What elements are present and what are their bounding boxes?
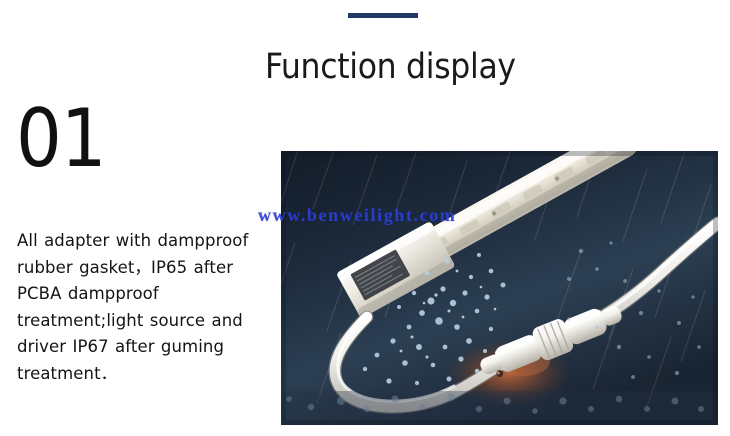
product-photo-illustration (281, 151, 718, 425)
feature-description: All adapter with dampproof rubber gasket… (17, 228, 249, 387)
page-title: Function display (265, 50, 545, 85)
title-accent-rule (348, 13, 418, 18)
site-watermark: www.benweilight.com (258, 205, 456, 226)
product-photo (281, 151, 718, 425)
feature-number: 01 (16, 99, 106, 179)
